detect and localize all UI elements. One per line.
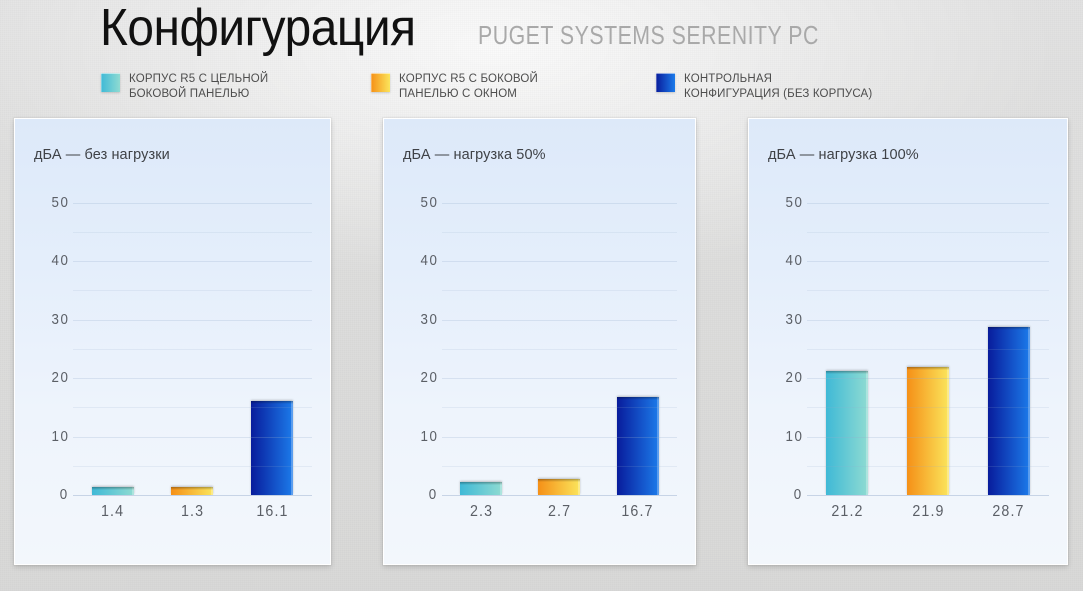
bar-group-load-100 bbox=[807, 191, 1049, 495]
gridline-major bbox=[73, 203, 312, 204]
bar-value-label: 21.9 bbox=[888, 503, 969, 521]
bar-slot bbox=[888, 191, 969, 495]
gridline-minor bbox=[807, 232, 1049, 233]
bar-slot bbox=[232, 191, 312, 495]
chart-title-load-100: дБА — нагрузка 100% bbox=[768, 147, 919, 163]
gridline-major bbox=[442, 320, 677, 321]
legend-item-case-solid-panel: КОРПУС R5 С ЦЕЛЬНОЙ БОКОВОЙ ПАНЕЛЬЮ bbox=[101, 72, 268, 101]
y-axis-tick-label: 30 bbox=[51, 312, 69, 328]
axis-baseline bbox=[73, 495, 312, 496]
gridline-minor bbox=[442, 466, 677, 467]
bar-value-label: 16.7 bbox=[599, 503, 677, 521]
legend-swatch-blue-icon bbox=[656, 73, 675, 92]
gridline-major bbox=[442, 437, 677, 438]
x-axis-labels-load-50: 2.32.716.7 bbox=[442, 503, 677, 521]
chart-panel-idle: дБА — без нагрузки 01020304050 1.41.316.… bbox=[14, 118, 331, 565]
x-axis-labels-idle: 1.41.316.1 bbox=[73, 503, 312, 521]
bar-cyan[interactable] bbox=[92, 487, 134, 495]
gridline-major bbox=[807, 320, 1049, 321]
gridline-major bbox=[73, 378, 312, 379]
gridline-major bbox=[807, 437, 1049, 438]
chart-panels: дБА — без нагрузки 01020304050 1.41.316.… bbox=[0, 118, 1083, 578]
gridline-minor bbox=[73, 290, 312, 291]
bar-slot bbox=[520, 191, 598, 495]
y-axis-tick-label: 20 bbox=[420, 370, 438, 386]
gridline-minor bbox=[807, 407, 1049, 408]
gridline-major bbox=[442, 378, 677, 379]
chart-legend: КОРПУС R5 С ЦЕЛЬНОЙ БОКОВОЙ ПАНЕЛЬЮ КОРП… bbox=[0, 72, 1083, 112]
grid-idle bbox=[73, 191, 312, 495]
grid-load-100 bbox=[807, 191, 1049, 495]
plot-area-load-50: 01020304050 2.32.716.7 bbox=[384, 191, 695, 529]
legend-swatch-cyan-icon bbox=[101, 73, 120, 92]
legend-label-case-solid-panel: КОРПУС R5 С ЦЕЛЬНОЙ БОКОВОЙ ПАНЕЛЬЮ bbox=[129, 72, 268, 101]
bar-slot bbox=[807, 191, 888, 495]
chart-panel-load-100: дБА — нагрузка 100% 01020304050 21.221.9… bbox=[748, 118, 1068, 565]
y-axis-tick-label: 10 bbox=[51, 429, 69, 445]
gridline-minor bbox=[442, 290, 677, 291]
y-axis-tick-label: 40 bbox=[420, 253, 438, 269]
bar-value-label: 16.1 bbox=[232, 503, 312, 521]
gridline-major bbox=[442, 261, 677, 262]
gridline-minor bbox=[73, 232, 312, 233]
axis-baseline bbox=[442, 495, 677, 496]
y-axis-load-100: 01020304050 bbox=[765, 191, 803, 495]
bar-orange[interactable] bbox=[907, 367, 949, 495]
bar-blue[interactable] bbox=[988, 327, 1030, 495]
gridline-minor bbox=[73, 407, 312, 408]
gridline-major bbox=[807, 378, 1049, 379]
gridline-minor bbox=[442, 349, 677, 350]
bar-value-label: 2.3 bbox=[442, 503, 520, 521]
gridline-major bbox=[807, 261, 1049, 262]
gridline-minor bbox=[807, 349, 1049, 350]
chart-panel-load-50: дБА — нагрузка 50% 01020304050 2.32.716.… bbox=[383, 118, 696, 565]
bar-cyan[interactable] bbox=[460, 482, 502, 495]
bar-blue[interactable] bbox=[617, 397, 659, 495]
bar-value-label: 2.7 bbox=[520, 503, 598, 521]
gridline-major bbox=[73, 320, 312, 321]
legend-label-control-no-case: КОНТРОЛЬНАЯ КОНФИГУРАЦИЯ (БЕЗ КОРПУСА) bbox=[684, 72, 872, 101]
bar-slot bbox=[968, 191, 1049, 495]
plot-area-load-100: 01020304050 21.221.928.7 bbox=[749, 191, 1067, 529]
y-axis-load-50: 01020304050 bbox=[400, 191, 438, 495]
legend-label-case-window-panel: КОРПУС R5 С БОКОВОЙ ПАНЕЛЬЮ С ОКНОМ bbox=[399, 72, 538, 101]
y-axis-tick-label: 50 bbox=[420, 195, 438, 211]
gridline-minor bbox=[442, 407, 677, 408]
y-axis-tick-label: 0 bbox=[60, 487, 69, 503]
y-axis-tick-label: 30 bbox=[785, 312, 803, 328]
y-axis-tick-label: 40 bbox=[785, 253, 803, 269]
y-axis-tick-label: 20 bbox=[51, 370, 69, 386]
bar-value-label: 1.4 bbox=[73, 503, 153, 521]
chart-title-load-50: дБА — нагрузка 50% bbox=[403, 147, 546, 163]
axis-baseline bbox=[807, 495, 1049, 496]
bar-slot bbox=[599, 191, 677, 495]
gridline-major bbox=[442, 203, 677, 204]
page-header: Конфигурация PUGET SYSTEMS SERENITY PC bbox=[0, 0, 1083, 66]
bar-cyan[interactable] bbox=[826, 371, 868, 495]
x-axis-labels-load-100: 21.221.928.7 bbox=[807, 503, 1049, 521]
plot-area-idle: 01020304050 1.41.316.1 bbox=[15, 191, 330, 529]
bar-group-idle bbox=[73, 191, 312, 495]
bar-slot bbox=[442, 191, 520, 495]
y-axis-tick-label: 10 bbox=[785, 429, 803, 445]
legend-item-control-no-case: КОНТРОЛЬНАЯ КОНФИГУРАЦИЯ (БЕЗ КОРПУСА) bbox=[656, 72, 872, 101]
gridline-minor bbox=[73, 466, 312, 467]
bar-slot bbox=[73, 191, 153, 495]
gridline-major bbox=[807, 203, 1049, 204]
page-subtitle: PUGET SYSTEMS SERENITY PC bbox=[478, 20, 819, 51]
gridline-minor bbox=[807, 466, 1049, 467]
chart-title-idle: дБА — без нагрузки bbox=[34, 147, 170, 163]
y-axis-idle: 01020304050 bbox=[31, 191, 69, 495]
gridline-minor bbox=[807, 290, 1049, 291]
grid-load-50 bbox=[442, 191, 677, 495]
bar-group-load-50 bbox=[442, 191, 677, 495]
y-axis-tick-label: 50 bbox=[51, 195, 69, 211]
y-axis-tick-label: 0 bbox=[429, 487, 438, 503]
y-axis-tick-label: 50 bbox=[785, 195, 803, 211]
gridline-minor bbox=[73, 349, 312, 350]
bar-slot bbox=[153, 191, 233, 495]
y-axis-tick-label: 10 bbox=[420, 429, 438, 445]
page-title: Конфигурация bbox=[100, 0, 416, 58]
bar-value-label: 1.3 bbox=[153, 503, 233, 521]
bar-value-label: 21.2 bbox=[807, 503, 888, 521]
y-axis-tick-label: 20 bbox=[785, 370, 803, 386]
legend-swatch-orange-icon bbox=[371, 73, 390, 92]
gridline-minor bbox=[442, 232, 677, 233]
gridline-major bbox=[73, 437, 312, 438]
bar-orange[interactable] bbox=[171, 487, 213, 495]
legend-item-case-window-panel: КОРПУС R5 С БОКОВОЙ ПАНЕЛЬЮ С ОКНОМ bbox=[371, 72, 538, 101]
y-axis-tick-label: 40 bbox=[51, 253, 69, 269]
bar-value-label: 28.7 bbox=[968, 503, 1049, 521]
gridline-major bbox=[73, 261, 312, 262]
bar-orange[interactable] bbox=[538, 479, 580, 495]
bar-blue[interactable] bbox=[251, 401, 293, 495]
y-axis-tick-label: 0 bbox=[794, 487, 803, 503]
y-axis-tick-label: 30 bbox=[420, 312, 438, 328]
